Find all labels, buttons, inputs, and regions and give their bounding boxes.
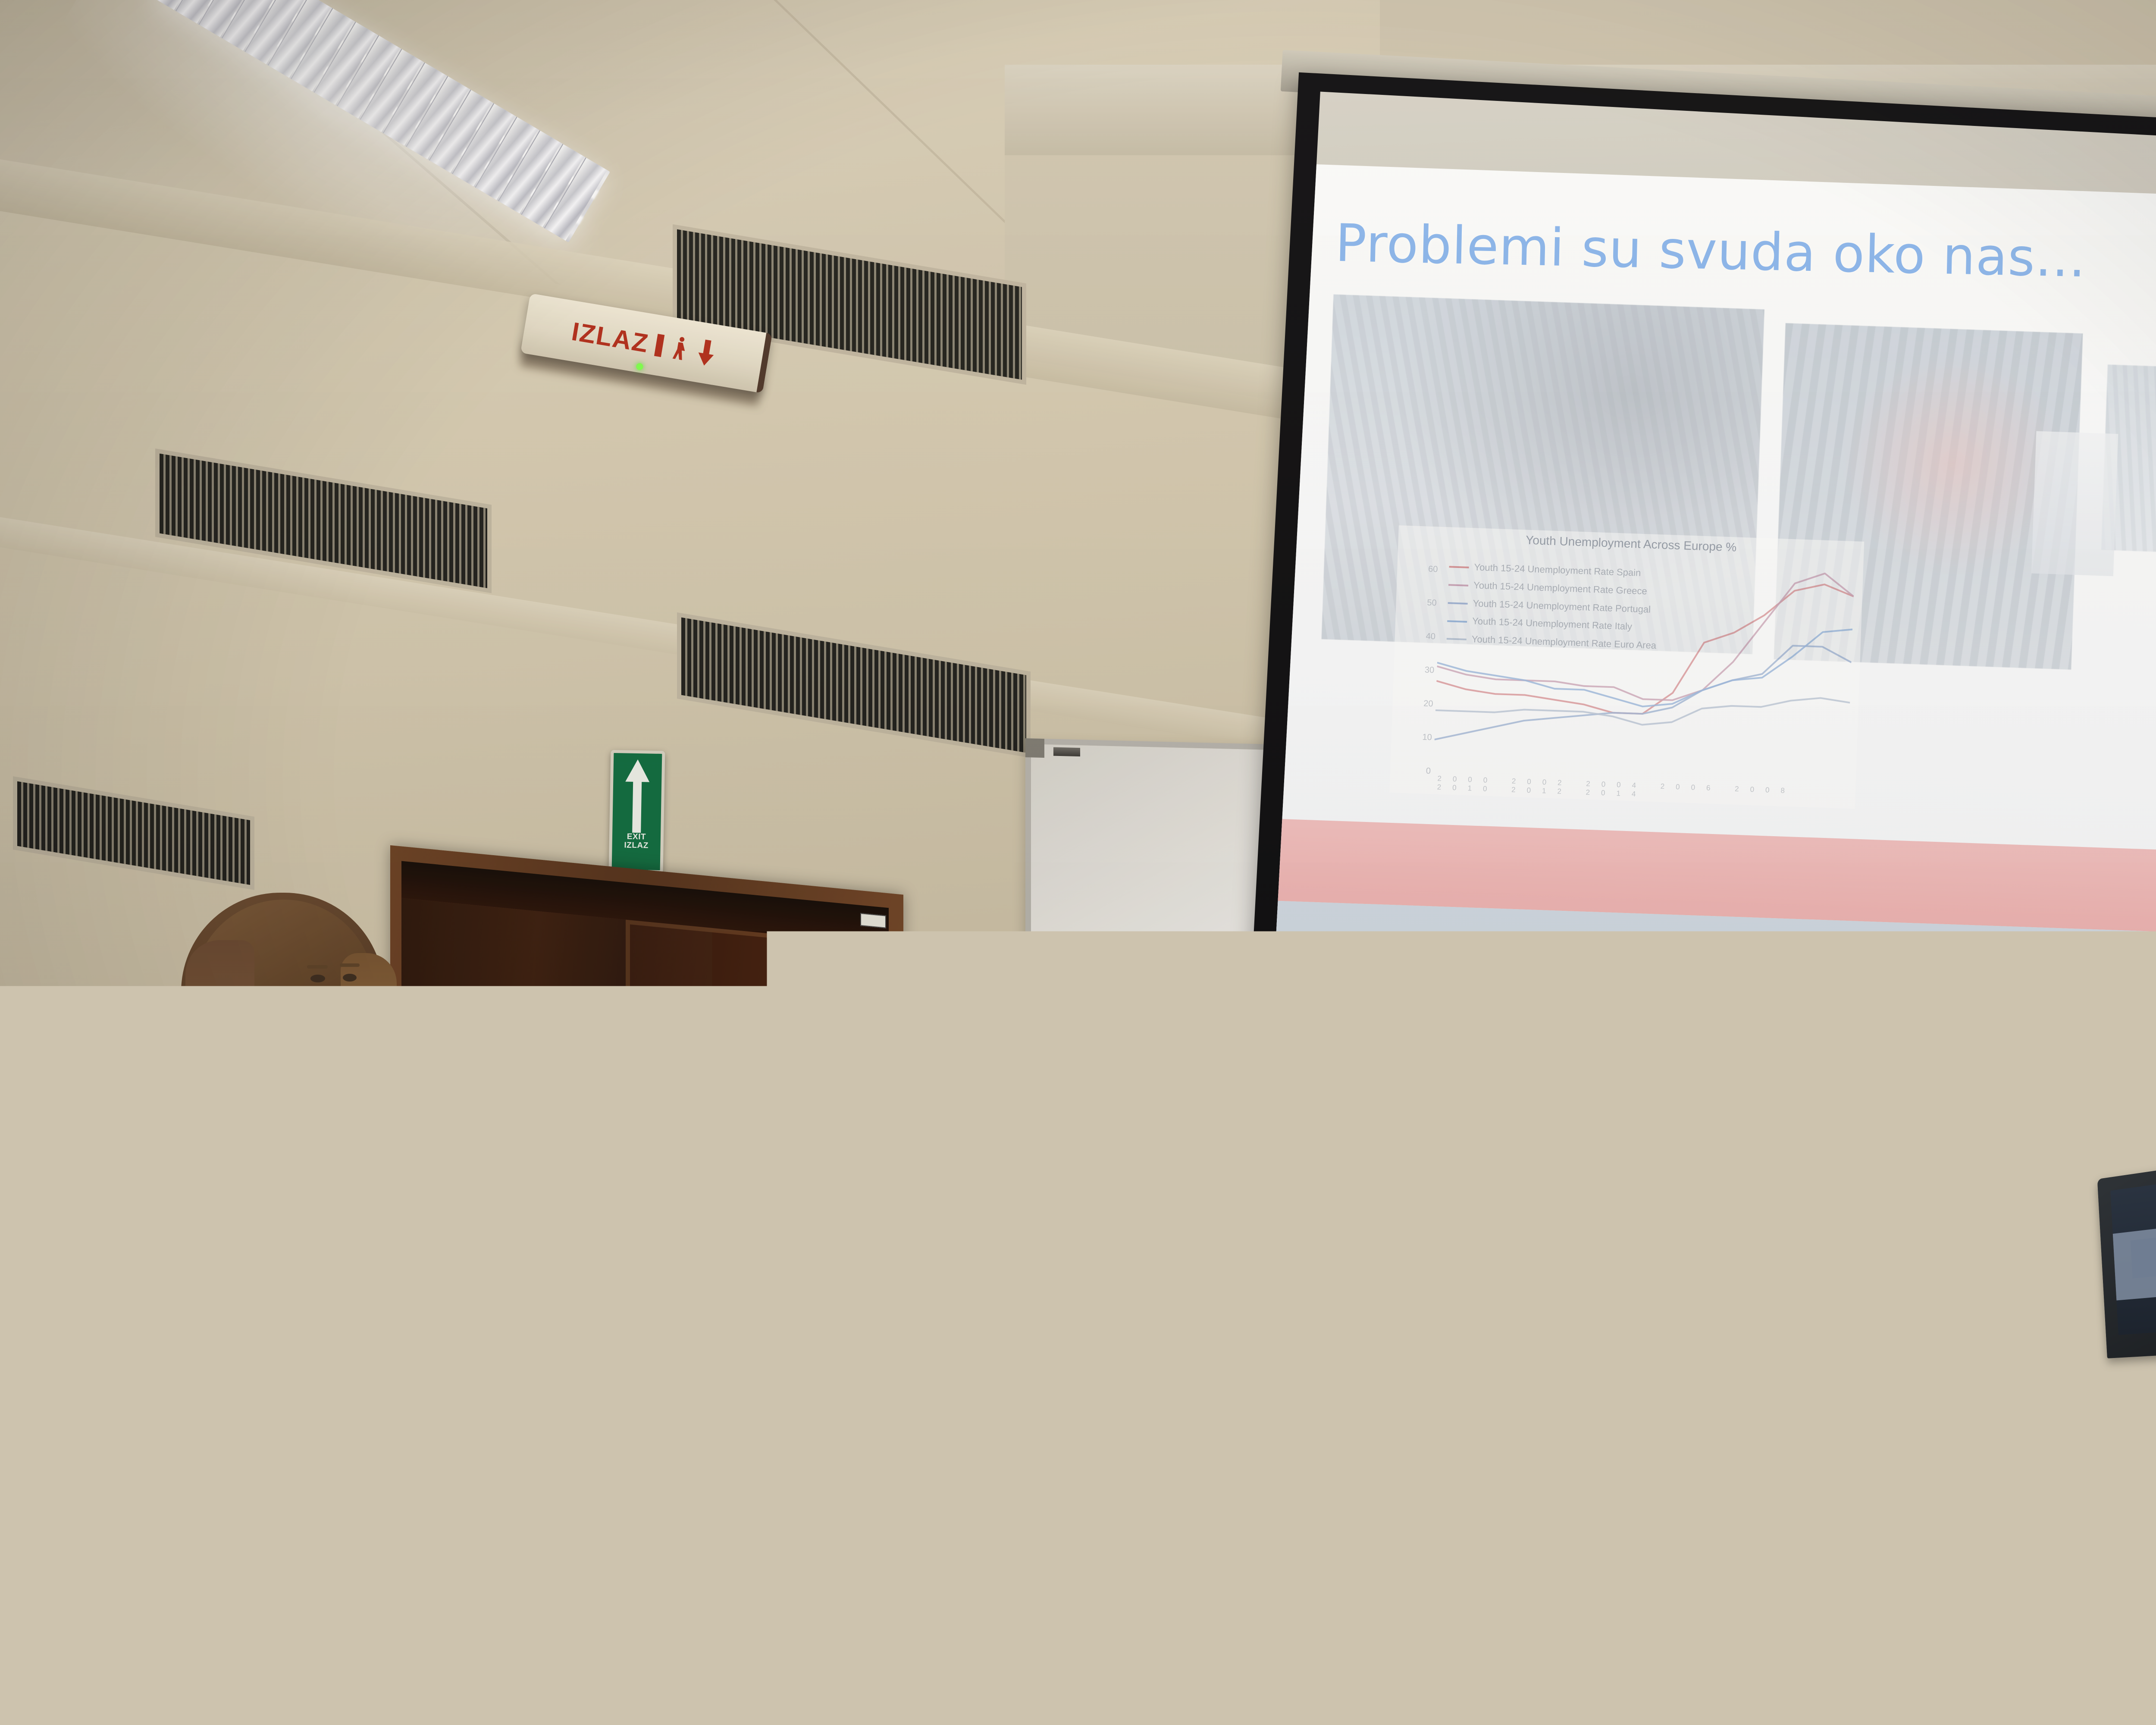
mouth <box>332 1026 363 1032</box>
laptop-slide-band <box>2113 1212 2156 1300</box>
presenter-person <box>108 888 561 1725</box>
trousers <box>155 1471 457 1725</box>
exit-door-icon <box>654 334 664 357</box>
rca-port-small[interactable] <box>1642 1495 1651 1505</box>
rca-port-red[interactable] <box>1665 1476 1679 1490</box>
eyebrow <box>307 965 328 969</box>
laptop-screen[interactable] <box>2110 1165 2156 1335</box>
light-switch-3[interactable] <box>1000 1047 1031 1084</box>
chart-y-tick: 30 <box>1409 652 1435 687</box>
whiteboard-clip <box>1053 747 1080 757</box>
presentation-slide: Problemi su svuda oko nas... Youth Unemp… <box>1270 163 2156 1114</box>
slide-line-chart: Youth Unemployment Across Europe % 60504… <box>1389 525 1864 809</box>
power-socket[interactable] <box>1690 1495 1706 1508</box>
slide-photo-inset <box>2031 431 2118 576</box>
eyebrow <box>340 963 360 967</box>
light-switch-1[interactable] <box>922 1051 953 1088</box>
chart-y-tick: 50 <box>1411 585 1437 620</box>
nose <box>352 988 365 1013</box>
side-table-shadow <box>0 1410 103 1725</box>
panel-screw <box>1689 1458 1695 1464</box>
chart-plot-area <box>1433 553 1855 787</box>
green-exit-label-en: EXIT <box>624 833 649 842</box>
laptop-lid[interactable]: hp <box>2097 1148 2156 1358</box>
chart-y-tick: 20 <box>1407 686 1434 721</box>
up-arrow-icon <box>624 759 650 833</box>
status-led <box>636 363 643 370</box>
desk-groove <box>466 1414 2156 1495</box>
door-sticker <box>860 913 886 928</box>
panel-screw <box>1560 1464 1565 1469</box>
chart-svg <box>1433 553 1855 787</box>
lecture-room-photo: IZLAZ EXIT IZLAZ <box>0 0 2156 1725</box>
presenter-laptop[interactable]: hp <box>2016 1147 2156 1432</box>
av-connection-panel[interactable] <box>1549 1448 1730 1536</box>
panel-screw <box>1623 1461 1628 1466</box>
chart-y-tick: 0 <box>1405 753 1432 788</box>
door-window-glass <box>753 1132 778 1281</box>
down-arrow-icon <box>696 339 717 368</box>
finger <box>188 1354 273 1374</box>
whiteboard-corner <box>1025 738 1044 758</box>
eye <box>343 974 357 982</box>
slide-grey-band <box>1270 900 2156 1114</box>
green-exit-label-sr: IZLAZ <box>624 841 649 850</box>
projection-screen-assembly: Problemi su svuda oko nas... Youth Unemp… <box>1244 8 2156 1178</box>
bottle-label <box>77 1367 101 1392</box>
eye <box>310 975 325 982</box>
rca-port-white[interactable] <box>1664 1497 1679 1510</box>
laptop-slide-thumbnail <box>2131 1237 2156 1279</box>
chart-y-axis-ticks: 6050403020100 <box>1405 552 1438 788</box>
water-bottle[interactable] <box>77 1320 101 1397</box>
green-exit-sign: EXIT IZLAZ <box>609 750 665 873</box>
light-switch-2[interactable] <box>961 1051 992 1088</box>
running-person-icon <box>669 336 693 363</box>
exit-sign-label: IZLAZ <box>570 316 651 358</box>
projection-screen-canvas: Problemi su svuda oko nas... Youth Unemp… <box>1270 91 2156 1114</box>
green-exit-sign-labels: EXIT IZLAZ <box>624 833 649 850</box>
chart-y-tick: 60 <box>1412 552 1438 586</box>
chart-y-tick: 40 <box>1410 619 1436 653</box>
desk-groove <box>466 1539 2156 1620</box>
bottle-cap[interactable] <box>82 1308 97 1320</box>
chart-y-tick: 10 <box>1406 720 1432 754</box>
rca-port-small[interactable] <box>1642 1477 1651 1487</box>
projection-screen-border: Problemi su svuda oko nas... Youth Unemp… <box>1246 72 2156 1156</box>
